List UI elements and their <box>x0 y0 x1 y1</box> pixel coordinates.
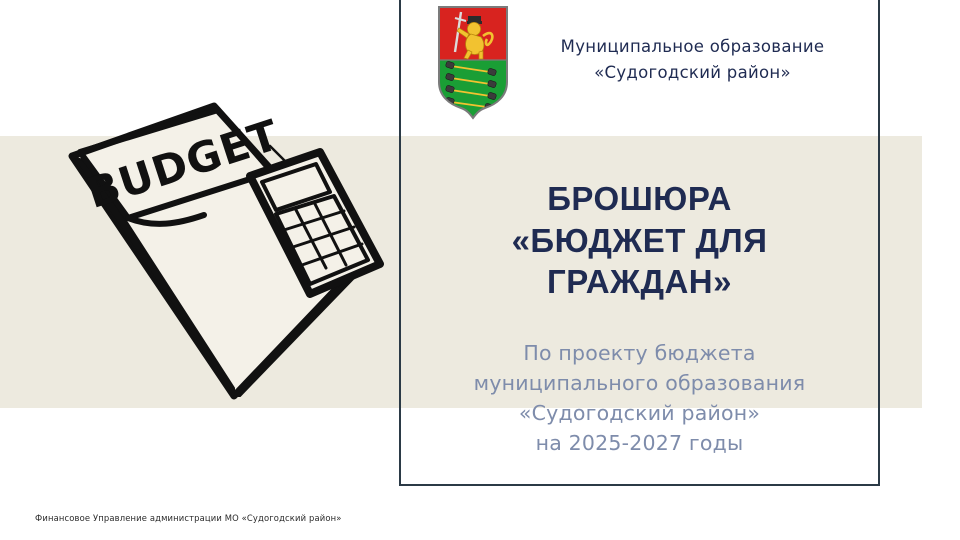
subtitle-line-3: «Судогодский район» <box>399 398 880 428</box>
organization-name: Муниципальное образование «Судогодский р… <box>511 34 880 85</box>
org-name-line-1: Муниципальное образование <box>515 34 870 60</box>
org-name-line-2: «Судогодский район» <box>515 60 870 86</box>
subtitle-line-4: на 2025-2027 годы <box>399 428 880 458</box>
title-line-3: ГРАЖДАН» <box>399 261 880 303</box>
title-line-1: БРОШЮРА <box>399 178 880 220</box>
page-title: БРОШЮРА «БЮДЖЕТ ДЛЯ ГРАЖДАН» <box>399 178 880 303</box>
page-subtitle: По проекту бюджета муниципального образо… <box>399 338 880 459</box>
footer-attribution: Финансовое Управление администрации МО «… <box>35 513 342 523</box>
coat-of-arms-icon <box>435 4 511 130</box>
title-line-2: «БЮДЖЕТ ДЛЯ <box>399 220 880 262</box>
header-block: Муниципальное образование «Судогодский р… <box>399 0 880 132</box>
budget-notepad-calculator-illustration: BUDGET <box>58 96 388 436</box>
subtitle-line-2: муниципального образования <box>399 368 880 398</box>
subtitle-line-1: По проекту бюджета <box>399 338 880 368</box>
